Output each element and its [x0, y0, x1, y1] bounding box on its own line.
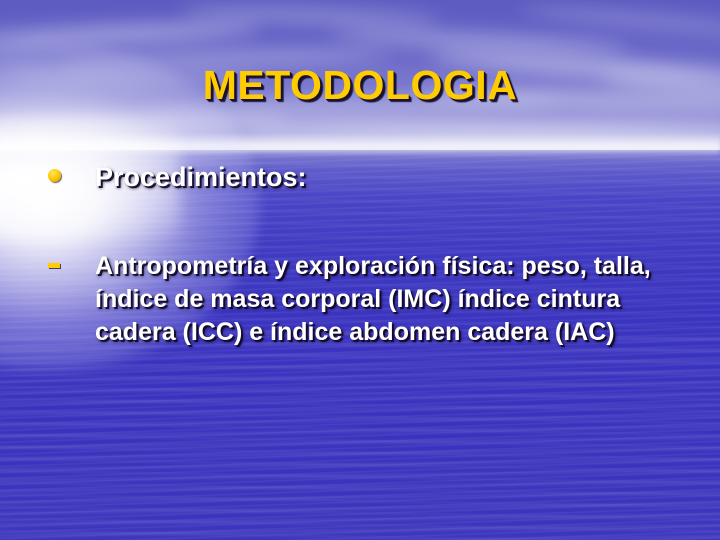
bullet-item-level1: Procedimientos:: [48, 160, 678, 194]
dot-bullet-icon: [48, 169, 61, 182]
slide-title: METODOLOGIA: [0, 62, 720, 109]
presentation-slide: METODOLOGIA Procedimientos: Antropometrí…: [0, 0, 720, 540]
bullet-level2-text: Antropometría y exploración física: peso…: [95, 250, 688, 349]
slide-content: METODOLOGIA Procedimientos: Antropometrí…: [0, 0, 720, 540]
bullet-item-level2: Antropometría y exploración física: peso…: [48, 250, 688, 349]
bullet-level1-text: Procedimientos:: [95, 160, 307, 194]
dash-bullet-icon: [48, 263, 60, 268]
